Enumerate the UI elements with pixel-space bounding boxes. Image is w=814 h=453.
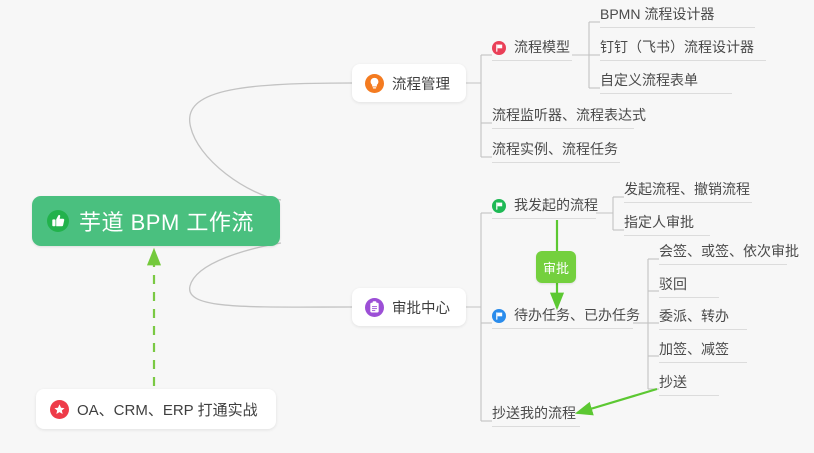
node-label: 加签、减签 [659, 340, 729, 358]
node-daiban-yiban-renwu[interactable]: 待办任务、已办任务 [492, 306, 633, 329]
node-label: 钉钉（飞书）流程设计器 [600, 38, 754, 56]
node-faqi-chexiao[interactable]: 发起流程、撤销流程 [624, 180, 752, 203]
footnote-label: OA、CRM、ERP 打通实战 [77, 399, 258, 420]
node-label: 驳回 [659, 275, 687, 293]
flag-green-icon [492, 199, 506, 213]
node-label: 委派、转办 [659, 307, 729, 325]
arrow-chaosong-to-chaosongwode [577, 389, 657, 413]
node-wo-faqi-de-liucheng[interactable]: 我发起的流程 [492, 196, 596, 219]
node-label: 抄送我的流程 [492, 404, 576, 422]
node-label: 抄送 [659, 373, 687, 391]
node-weipai-zhuanban[interactable]: 委派、转办 [659, 307, 747, 330]
wire-root-to-liucheng-guanli [190, 83, 352, 200]
node-zhidingren-shenpi[interactable]: 指定人审批 [624, 213, 710, 236]
branch-label: 审批中心 [392, 297, 450, 318]
node-label: 发起流程、撤销流程 [624, 180, 750, 198]
node-chaosong-wode-liucheng[interactable]: 抄送我的流程 [492, 404, 580, 427]
node-zidingyi-biaodan[interactable]: 自定义流程表单 [600, 71, 732, 94]
node-label: 流程模型 [514, 38, 570, 56]
node-huiqian-huoqian-yici[interactable]: 会签、或签、依次审批 [659, 242, 787, 265]
node-chaosong[interactable]: 抄送 [659, 373, 719, 396]
node-label: 流程实例、流程任务 [492, 140, 618, 158]
footnote-node-oa-crm-erp[interactable]: OA、CRM、ERP 打通实战 [36, 389, 276, 429]
wire-root-to-shenpi-zhongxin [190, 243, 352, 307]
node-dingding-feishu-sheji[interactable]: 钉钉（飞书）流程设计器 [600, 38, 766, 61]
node-label: 指定人审批 [624, 213, 694, 231]
clipboard-icon [365, 298, 384, 317]
node-label: 流程监听器、流程表达式 [492, 106, 646, 124]
lightbulb-icon [365, 74, 384, 93]
node-jiaqian-jianqian[interactable]: 加签、减签 [659, 340, 747, 363]
flag-red-icon [492, 41, 506, 55]
node-bpmn-sheji[interactable]: BPMN 流程设计器 [600, 5, 755, 28]
thumbs-up-icon [46, 209, 70, 233]
root-label: 芋道 BPM 工作流 [79, 205, 254, 237]
star-icon [50, 400, 69, 419]
node-label: 待办任务、已办任务 [514, 306, 640, 324]
node-jiantingqi-biaodashi[interactable]: 流程监听器、流程表达式 [492, 106, 634, 129]
node-label: BPMN 流程设计器 [600, 5, 714, 23]
tag-shenpi[interactable]: 审批 [536, 251, 576, 283]
node-label: 会签、或签、依次审批 [659, 242, 799, 260]
node-label: 自定义流程表单 [600, 71, 698, 89]
node-bohui[interactable]: 驳回 [659, 275, 719, 298]
mindmap-canvas: 芋道 BPM 工作流 流程管理 流程模型 BPMN 流程设计器 钉钉（飞书）流程… [0, 0, 814, 453]
node-liucheng-moxing[interactable]: 流程模型 [492, 38, 572, 61]
branch-label: 流程管理 [392, 73, 450, 94]
node-shili-renwu[interactable]: 流程实例、流程任务 [492, 140, 620, 163]
node-label: 我发起的流程 [514, 196, 598, 214]
branch-node-liucheng-guanli[interactable]: 流程管理 [352, 64, 466, 102]
root-node[interactable]: 芋道 BPM 工作流 [32, 196, 280, 246]
tag-label: 审批 [543, 258, 569, 277]
branch-node-shenpi-zhongxin[interactable]: 审批中心 [352, 288, 466, 326]
flag-blue-icon [492, 309, 506, 323]
